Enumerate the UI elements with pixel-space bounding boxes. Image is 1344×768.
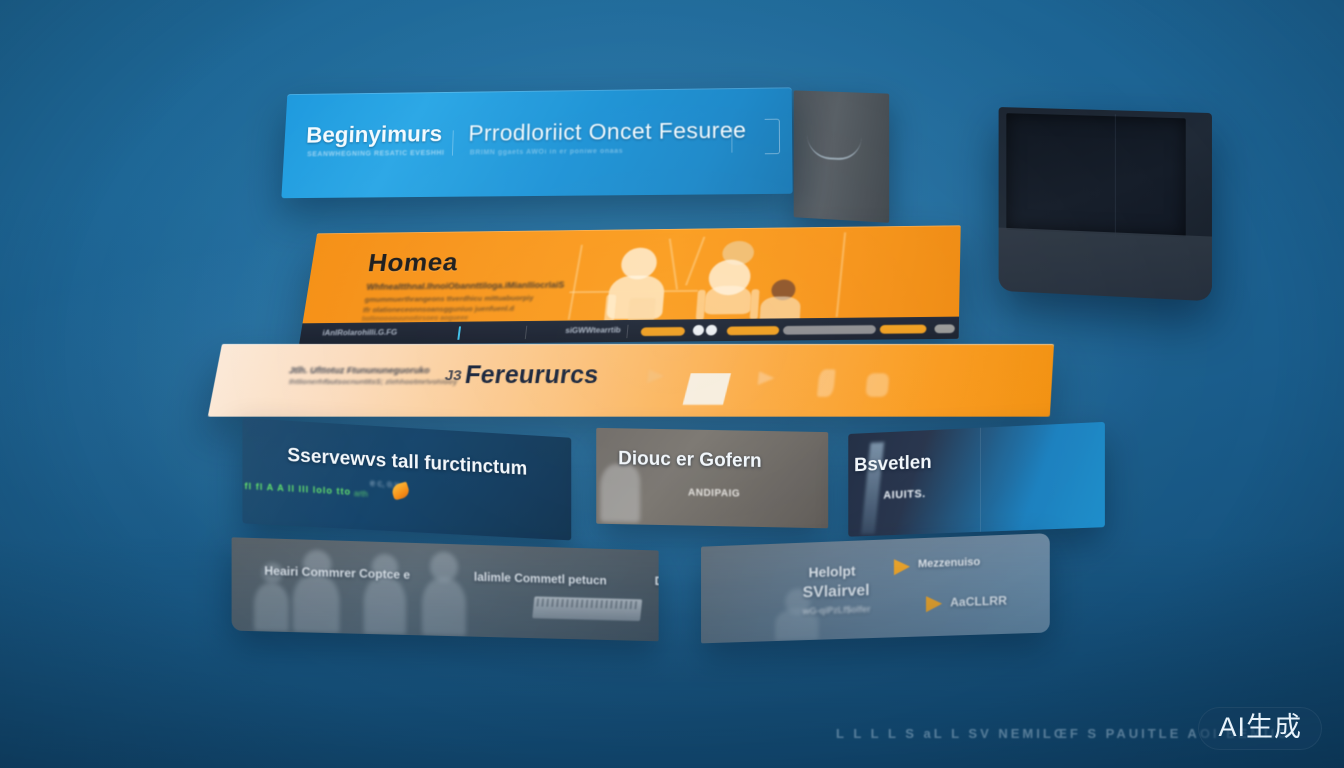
header-title-right: Prrodloriict Oncet Fesuree	[468, 117, 746, 147]
card-support[interactable]: Helolpt SVlairvel wG-qiPzLf$olfer Mezzen…	[701, 533, 1050, 643]
ai-generated-badge: AI生成	[1198, 707, 1322, 750]
card-support-link-1[interactable]: Mezzenuiso	[918, 556, 980, 570]
hero-nav-pill-2[interactable]	[727, 326, 780, 335]
illustration-line-5	[836, 232, 846, 317]
illustration-line-3	[569, 290, 698, 293]
dark-block-base	[999, 228, 1212, 302]
hero-nav-pill-4[interactable]	[880, 325, 927, 334]
card-documentation-figure	[600, 464, 640, 523]
tab-bracket-icon[interactable]	[765, 119, 780, 155]
features-title: Fereururcs	[463, 362, 600, 390]
features-pretext-2: lhtlionerhfbutsocnuntitsS; zlehhootmrlvo…	[288, 377, 458, 386]
dark-block-seam	[1115, 114, 1116, 236]
dark-block-screen	[1006, 113, 1185, 237]
illustration-line-4	[685, 237, 705, 286]
header-title-left: Beginyimurs	[306, 121, 443, 149]
card-overview-subtitle: AIUITS.	[883, 488, 925, 502]
hero-nav-pill-1[interactable]	[641, 327, 686, 336]
hero-nav-item-2[interactable]: siGWWtearrtib	[565, 326, 621, 335]
card-services-meta-green-2: arth	[354, 489, 368, 499]
hero-title: Homea	[366, 248, 460, 278]
hero-nav-dots[interactable]	[693, 325, 718, 336]
header-subtitle-right: BRIMN ggaets AWOi in er poniwe onaas	[470, 148, 624, 156]
play-arrow-icon-2[interactable]	[926, 596, 942, 613]
screenshot-stage: Beginyimurs Prrodloriict Oncet Fesuree S…	[0, 0, 1344, 768]
card-services[interactable]: Sservewvs tall furctinctum e c, o,v fl f…	[242, 418, 571, 540]
arc-icon	[807, 135, 861, 161]
dark-display-block[interactable]	[999, 107, 1212, 301]
features-badge: J3	[444, 367, 463, 384]
features-panel[interactable]: Jtlh. Ufttotuz Ftunununeguoruko lhtlione…	[208, 344, 1054, 417]
card-support-link-2[interactable]: AaCLLRR	[950, 593, 1007, 609]
features-arrow-icon-1	[647, 369, 665, 383]
card-community-text-3[interactable]: Devemebuorbyr	[655, 574, 659, 590]
header-divider-2	[731, 127, 732, 153]
illustration-accent-ball	[771, 279, 796, 300]
card-support-figures	[701, 533, 1050, 643]
hero-panel[interactable]: Homea Whfnealtthnal.lhnoiObannttiloga.iM…	[299, 225, 961, 345]
card-community[interactable]: Heairi Commrer Coptce e lalimle Commetl …	[232, 537, 659, 641]
hero-nav-separator-2	[626, 325, 628, 338]
play-arrow-icon-1[interactable]	[894, 559, 910, 576]
illustration-line-1	[568, 245, 583, 320]
card-support-text-1[interactable]: Helolpt	[809, 563, 856, 581]
hero-nav-pill-3[interactable]	[783, 325, 876, 335]
illustration-line-2	[669, 238, 678, 289]
hero-subtitle-2: gmummuerthrangeons ttverdhicu mittuabuor…	[364, 294, 534, 304]
card-support-text-2[interactable]: SVlairvel	[803, 582, 870, 602]
features-card-shape	[683, 373, 731, 405]
hero-nav-item-1[interactable]: iAnlRolarohilli.G.FG	[322, 328, 398, 337]
floor-glow	[0, 538, 1344, 768]
card-overview-seam	[980, 428, 981, 532]
grey-slab[interactable]	[794, 90, 889, 222]
keyboard-icon	[532, 596, 642, 621]
card-documentation-subtitle: ANDIPAIG	[688, 488, 740, 500]
hero-nav-separator-1	[525, 326, 528, 339]
card-documentation[interactable]: Diouc er Gofern ANDIPAIG	[596, 428, 828, 528]
card-support-text-3: wG-qiPzLf$olfer	[803, 604, 871, 616]
header-divider-1	[452, 130, 454, 155]
features-pretext-1: Jtlh. Ufttotuz Ftunununeguoruko	[288, 365, 430, 375]
header-panel[interactable]: Beginyimurs Prrodloriict Oncet Fesuree S…	[281, 87, 792, 198]
card-documentation-title: Diouc er Gofern	[618, 448, 761, 473]
hero-subtitle-3: Ifr olationeceonnsoansgguniuo juenfuenl.…	[363, 304, 515, 314]
card-community-text-1[interactable]: Heairi Commrer Coptce e	[264, 564, 410, 582]
features-shape-1	[817, 369, 836, 397]
features-shape-2	[865, 373, 889, 397]
text-cursor	[457, 326, 461, 339]
card-overview-title: Bsvetlen	[854, 452, 932, 477]
hero-nav-pill-5[interactable]	[934, 324, 954, 333]
card-community-text-2[interactable]: lalimle Commetl petucn	[474, 570, 607, 588]
hero-subtitle-1: Whfnealtthnal.lhnoiObannttiloga.iMianlli…	[366, 280, 565, 292]
features-arrow-icon-2	[758, 371, 776, 385]
header-subtitle-left: SEANWHEGNING RESATIC EVESHHI	[307, 150, 445, 158]
card-community-figures	[232, 537, 659, 641]
card-overview[interactable]: Bsvetlen AIUITS.	[848, 422, 1105, 537]
